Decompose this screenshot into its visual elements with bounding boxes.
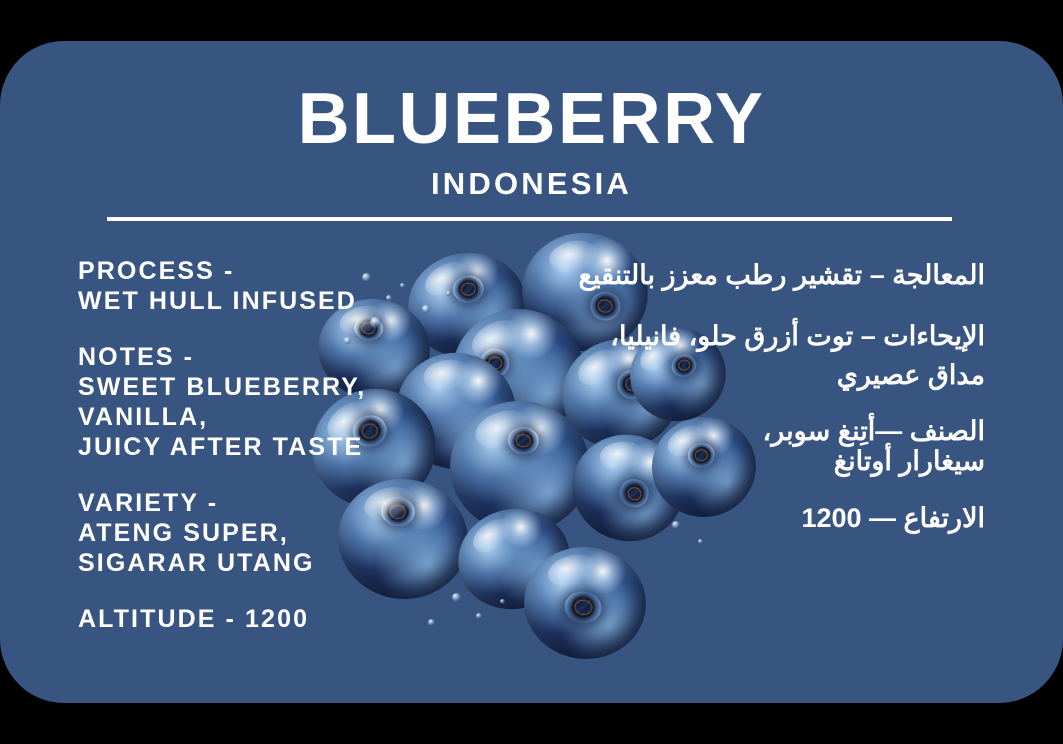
- water-droplet: [698, 539, 703, 544]
- label-canvas: BLUEBERRY INDONESIA: [0, 0, 1063, 744]
- detail-process-en: PROCESS - WET HULL INFUSED: [78, 256, 458, 316]
- water-droplet: [500, 599, 505, 604]
- detail-variety-en: VARIETY - ATENG SUPER, SIGARAR UTANG: [78, 488, 458, 578]
- blueberry: [518, 541, 651, 665]
- blueberry: [449, 498, 579, 619]
- product-label-card: BLUEBERRY INDONESIA: [0, 41, 1063, 703]
- blueberry-crown: [507, 427, 540, 455]
- blueberry-crown: [479, 348, 510, 378]
- water-droplet: [476, 613, 482, 619]
- detail-altitude-ar: الارتفاع — 1200: [565, 499, 985, 538]
- page-title: BLUEBERRY: [0, 83, 1063, 155]
- blueberry-crown: [563, 590, 603, 625]
- detail-process-ar: المعالجة – تقشير رطب معزز بالتنقيع: [565, 256, 985, 295]
- header-divider: [107, 217, 952, 221]
- detail-altitude-en: ALTITUDE - 1200: [78, 604, 458, 634]
- details-column-english: PROCESS - WET HULL INFUSED NOTES - SWEET…: [78, 256, 458, 634]
- detail-notes-ar: الإيحاءات – توت أزرق حلو، فانيليا، مداق …: [565, 317, 985, 395]
- origin-subtitle: INDONESIA: [0, 168, 1063, 199]
- details-column-arabic: المعالجة – تقشير رطب معزز بالتنقيع الإيح…: [565, 256, 985, 538]
- detail-notes-en: NOTES - SWEET BLUEBERRY, VANILLA, JUICY …: [78, 342, 458, 462]
- detail-variety-ar: الصنف —أتِنغ سوبر، سيغارار أوتانغ: [565, 417, 985, 476]
